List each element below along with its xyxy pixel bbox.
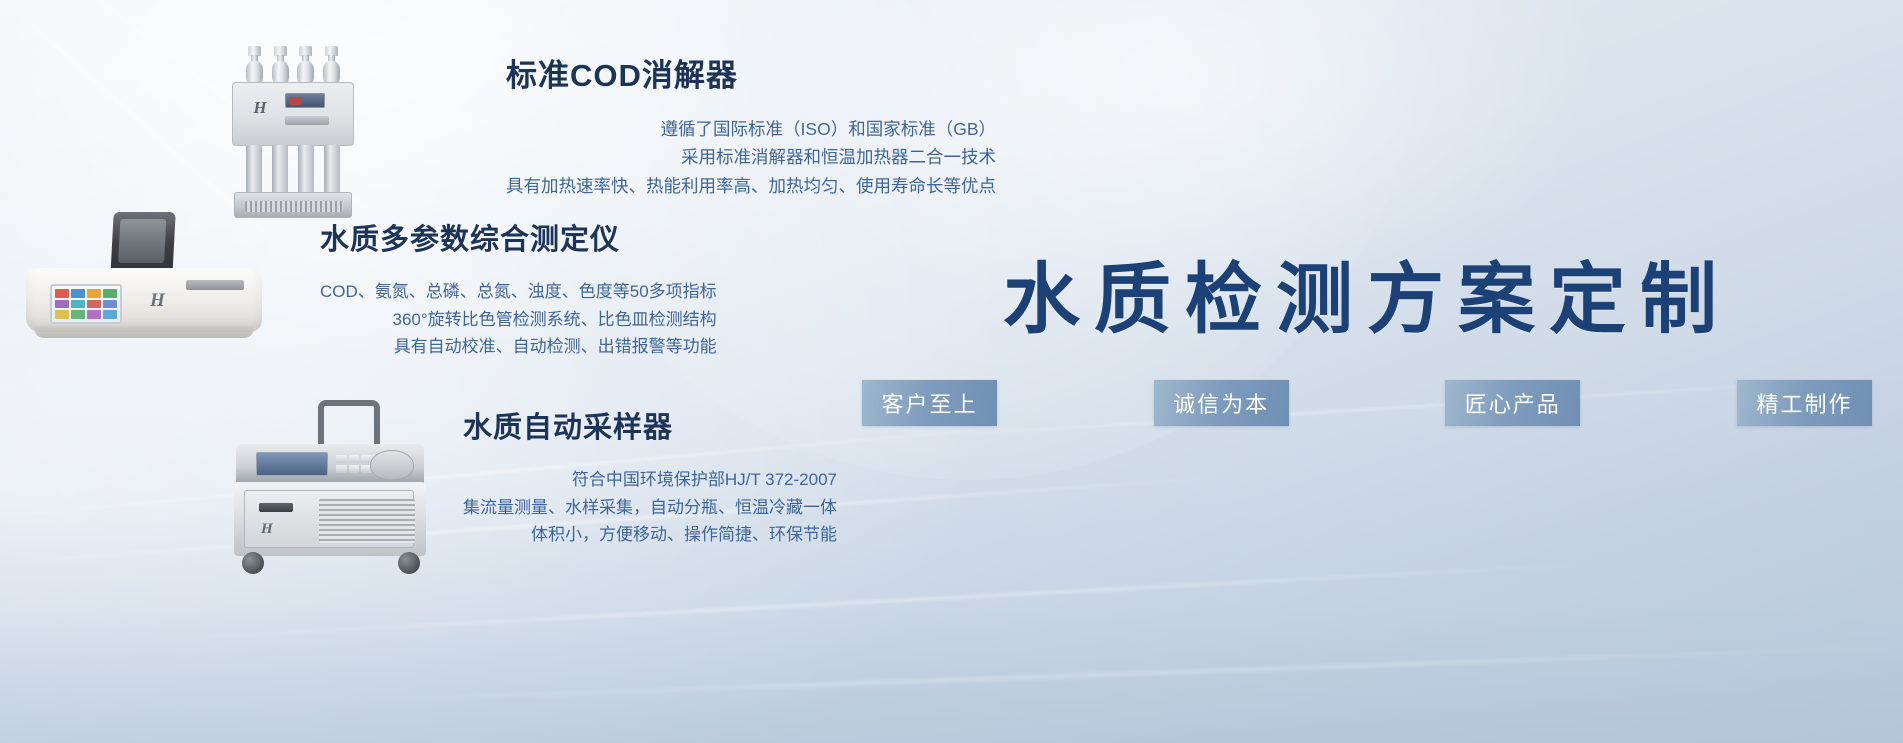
description-line: 体积小，方便移动、操作简捷、环保节能 [463, 521, 837, 549]
value-badge-row: 客户至上 诚信为本 匠心产品 精工制作 [862, 380, 1872, 426]
product-description: 符合中国环境保护部HJ/T 372-2007 集流量测量、水样采集，自动分瓶、恒… [463, 466, 837, 549]
badge-label: 客户至上 [881, 387, 977, 419]
badge-integrity: 诚信为本 [1154, 380, 1289, 426]
description-line: 遵循了国际标准（ISO）和国家标准（GB） [506, 115, 996, 143]
product-description: COD、氨氮、总磷、总氮、浊度、色度等50多项指标 360°旋转比色管检测系统、… [320, 278, 717, 361]
sampler-vent-icon [319, 499, 415, 543]
product-block-auto-sampler: H 水质自动采样器 符合中国环境保护部HJ/T 372-2007 集流量测量、水… [228, 400, 837, 580]
product-title: 水质自动采样器 [463, 404, 837, 446]
sampler-pump-icon [370, 450, 414, 480]
description-line: 符合中国环境保护部HJ/T 372-2007 [463, 466, 837, 494]
page-title: 水质检测方案定制 [862, 238, 1872, 349]
cod-display-icon [285, 93, 325, 108]
product-title: 标准COD消解器 [506, 50, 996, 95]
badge-fine-manufacturing: 精工制作 [1737, 380, 1872, 426]
brand-logo-icon: H [249, 97, 271, 119]
product-description: 遵循了国际标准（ISO）和国家标准（GB） 采用标准消解器和恒温加热器二合一技术… [506, 115, 996, 200]
badge-label: 匠心产品 [1465, 387, 1561, 419]
multi-parameter-analyzer-image: H [20, 212, 270, 352]
product-block-cod-digester: H 标准COD消解器 遵循了国际标准（ISO）和国家标准（GB） 采用标准消解器… [232, 46, 996, 218]
auto-sampler-image: H [228, 400, 433, 580]
sampler-display-icon [256, 452, 328, 476]
brand-logo-icon: H [150, 290, 165, 312]
badge-customer-first: 客户至上 [862, 380, 997, 426]
cod-digester-image: H [232, 46, 354, 218]
analyzer-touchscreen-icon [50, 284, 122, 324]
description-line: 具有自动校准、自动检测、出错报警等功能 [320, 333, 717, 361]
water-quality-banner: H 标准COD消解器 遵循了国际标准（ISO）和国家标准（GB） 采用标准消解器… [0, 0, 1903, 743]
multi-parameter-analyzer-text: 水质多参数综合测定仪 COD、氨氮、总磷、总氮、浊度、色度等50多项指标 360… [270, 212, 717, 361]
description-line: 采用标准消解器和恒温加热器二合一技术 [506, 143, 996, 171]
product-title: 水质多参数综合测定仪 [320, 216, 717, 258]
description-line: 具有加热速率快、热能利用率高、加热均匀、使用寿命长等优点 [506, 172, 996, 200]
auto-sampler-text: 水质自动采样器 符合中国环境保护部HJ/T 372-2007 集流量测量、水样采… [433, 400, 837, 549]
brand-logo-icon: H [261, 521, 273, 538]
badge-label: 精工制作 [1756, 387, 1852, 419]
sampler-wheels-icon [242, 552, 420, 578]
description-line: 360°旋转比色管检测系统、比色皿检测结构 [320, 306, 717, 334]
cod-control-panel-icon [285, 116, 329, 125]
product-block-multi-parameter-analyzer: H 水质多参数综合测定仪 COD、氨氮、总磷、总氮、浊度、色度等50多项指标 3… [20, 212, 717, 361]
description-line: 集流量测量、水样采集，自动分瓶、恒温冷藏一体 [463, 494, 837, 522]
analyzer-cuvette-slot-icon [186, 280, 244, 290]
cod-digester-text: 标准COD消解器 遵循了国际标准（ISO）和国家标准（GB） 采用标准消解器和恒… [354, 46, 996, 200]
description-line: COD、氨氮、总磷、总氮、浊度、色度等50多项指标 [320, 278, 717, 306]
sampler-latch-icon [259, 503, 293, 512]
badge-label: 诚信为本 [1173, 387, 1269, 419]
badge-craftsmanship: 匠心产品 [1445, 380, 1580, 426]
